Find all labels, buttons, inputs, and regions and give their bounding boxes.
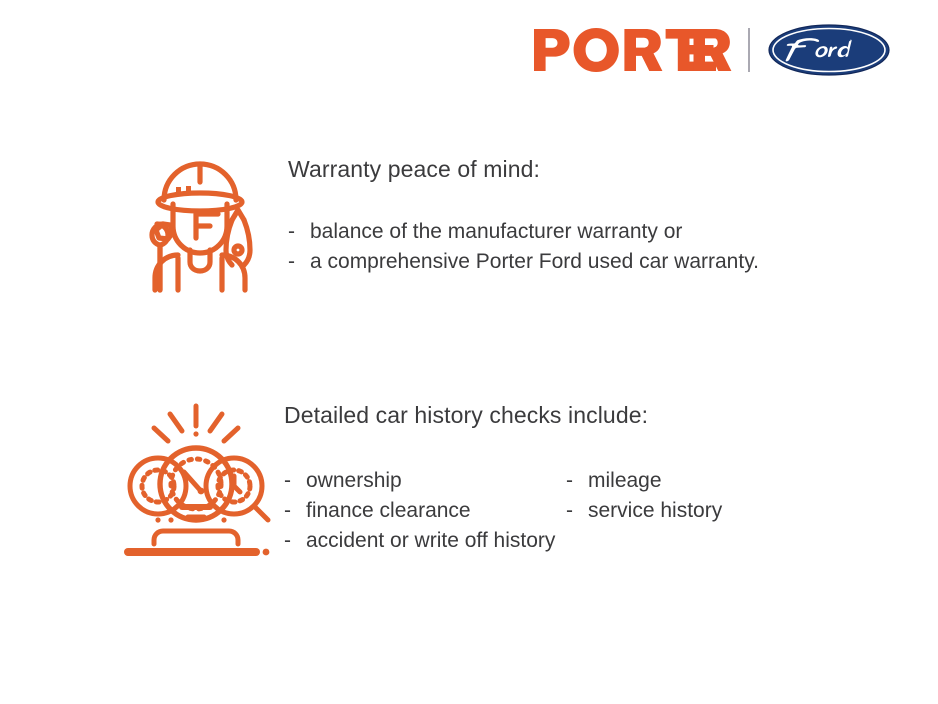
brand-divider <box>748 28 750 72</box>
bullet-text: ownership <box>306 466 402 496</box>
list-item: - mileage <box>566 466 722 496</box>
dashboard-gauges-warning-icon <box>108 392 284 560</box>
list-item: - service history <box>566 496 722 526</box>
brand-lockup <box>534 22 890 78</box>
bullet-text: finance clearance <box>306 496 471 526</box>
list-item: - ownership <box>284 466 566 496</box>
warranty-bullet-list: - balance of the manufacturer warranty o… <box>288 217 759 277</box>
bullet-text: a comprehensive Porter Ford used car war… <box>310 247 759 277</box>
list-item: - a comprehensive Porter Ford used car w… <box>288 247 759 277</box>
list-item: - balance of the manufacturer warranty o… <box>288 217 759 247</box>
bullet-dash: - <box>284 466 306 496</box>
list-item: - finance clearance <box>284 496 566 526</box>
bullet-dash: - <box>288 217 310 247</box>
warranty-heading: Warranty peace of mind: <box>288 156 759 184</box>
history-heading: Detailed car history checks include: <box>284 402 722 430</box>
bullet-text: balance of the manufacturer warranty or <box>310 217 682 247</box>
ford-logo[interactable] <box>768 24 890 76</box>
porter-logo[interactable] <box>534 28 732 72</box>
bullet-text: mileage <box>588 466 662 496</box>
section-warranty: Warranty peace of mind: - balance of the… <box>112 138 759 298</box>
bullet-dash: - <box>284 496 306 526</box>
bullet-text: service history <box>588 496 722 526</box>
bullet-dash: - <box>288 247 310 277</box>
bullet-dash: - <box>284 526 306 556</box>
bullet-dash: - <box>566 496 588 526</box>
history-bullet-grid: - ownership - mileage - finance clearanc… <box>284 466 722 556</box>
mechanic-with-tools-icon <box>112 138 288 298</box>
section-history-checks: Detailed car history checks include: - o… <box>108 392 722 560</box>
bullet-text: accident or write off history <box>306 526 555 556</box>
list-item: - accident or write off history <box>284 526 722 556</box>
bullet-dash: - <box>566 466 588 496</box>
